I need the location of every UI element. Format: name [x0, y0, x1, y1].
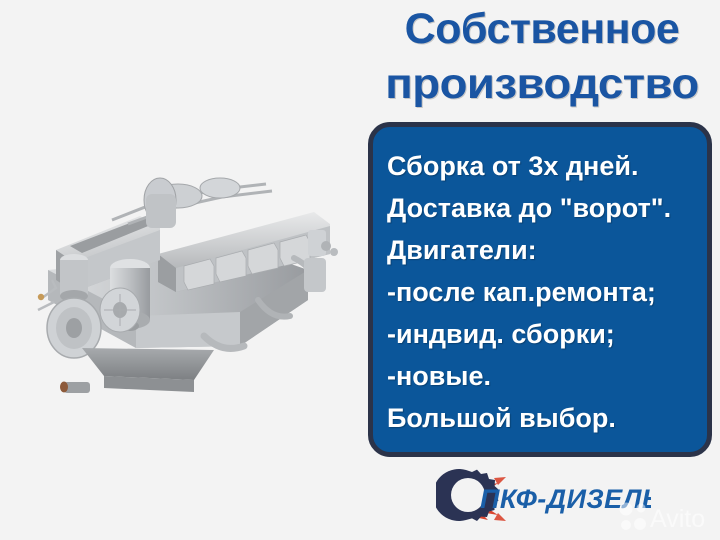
- diesel-engine-illustration: [8, 150, 356, 400]
- headline: Собственное производство: [366, 2, 718, 106]
- avito-wordmark: Avito: [650, 505, 705, 533]
- engine-photo: [8, 150, 356, 400]
- avito-watermark: Avito: [618, 496, 718, 536]
- headline-line-1: Собственное: [366, 8, 718, 51]
- avito-dots-icon: [620, 503, 647, 531]
- headline-line-2: производство: [355, 63, 720, 106]
- info-line-5: -индвид. сборки;: [387, 313, 707, 355]
- advertisement-canvas: Собственное производство: [0, 0, 720, 540]
- info-line-3: Двигатели:: [387, 229, 707, 271]
- info-line-6: -новые.: [387, 355, 707, 397]
- avito-watermark-artwork: Avito: [618, 496, 718, 536]
- info-line-2: Доставка до "ворот".: [387, 187, 707, 229]
- info-line-4: -после кап.ремонта;: [387, 271, 707, 313]
- info-line-7: Большой выбор.: [387, 397, 707, 439]
- info-line-1: Сборка от 3х дней.: [387, 145, 707, 187]
- info-panel: Сборка от 3х дней. Доставка до "ворот". …: [368, 122, 712, 457]
